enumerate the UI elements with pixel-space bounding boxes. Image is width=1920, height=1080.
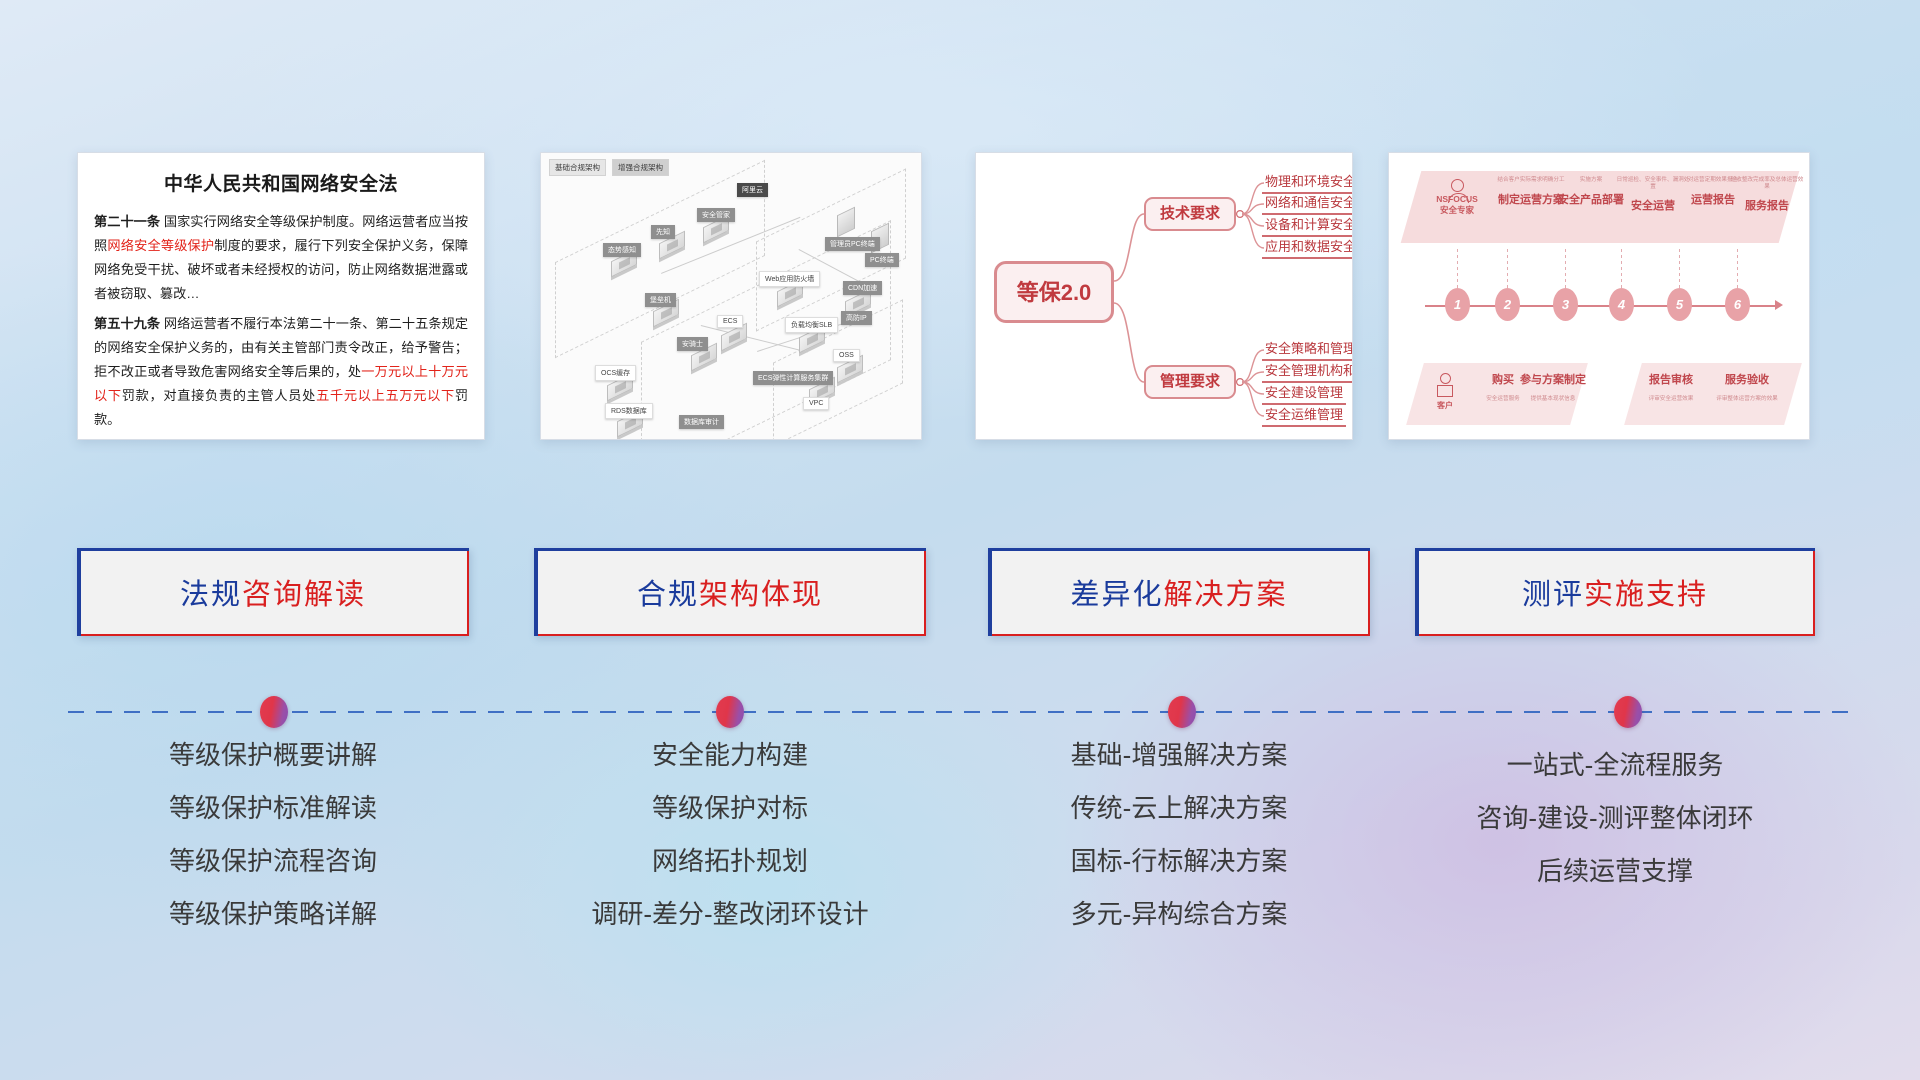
customer-icon [1440, 373, 1451, 384]
law-article-21: 第二十一条 国家实行网络安全等级保护制度。网络运营者应当按照网络安全等级保护制度… [94, 210, 468, 306]
mindmap-leaf: 网络和通信安全 [1262, 192, 1353, 215]
detail-column-evaluation: 一站式-全流程服务 咨询-建设-测评整体闭环 后续运营支撑 [1415, 742, 1815, 911]
mindmap-leaf: 安全策略和管理制度 [1262, 338, 1353, 361]
chip-slb: 负载均衡SLB [785, 317, 838, 333]
heading-text-part-a: 测评 [1522, 579, 1584, 611]
nsfocus-top-step: 验收整改完成率及总体运营效果 服务报告 [1729, 177, 1805, 213]
heading-text-part-b: 解决方案 [1164, 579, 1288, 611]
heading-text-part-b: 咨询解读 [242, 579, 366, 611]
tab-enhanced-architecture[interactable]: 增强合规架构 [612, 159, 669, 176]
mindmap-branch-management: 管理要求 [1144, 365, 1236, 399]
chip-cdn: CDN加速 [843, 281, 882, 295]
chip-ecs-cluster: ECS弹性计算服务集群 [753, 371, 833, 385]
heading-text-part-a: 差异化 [1070, 579, 1163, 611]
customer-step-name: 服务验收 [1701, 371, 1793, 387]
law-article-21-label: 第二十一条 [94, 214, 160, 229]
chip-situation-awareness: 态势感知 [603, 243, 641, 257]
nsfocus-brand: NSFOCUS 安全专家 [1425, 179, 1489, 215]
timeline-arrow-icon [1775, 300, 1783, 310]
heading-text: 合规架构体现 [637, 571, 823, 613]
chip-oss: OSS [833, 349, 860, 362]
detail-item: 等级保护对标 [534, 795, 926, 821]
mindmap-leaf: 物理和环境安全 [1262, 171, 1353, 194]
chip-cloud: 阿里云 [737, 183, 768, 197]
mindmap-leaf: 安全运维管理 [1262, 404, 1346, 427]
chip-perception: 先知 [651, 225, 675, 239]
law-article-21-highlight: 网络安全等级保护 [107, 238, 214, 253]
mindmap-leaf: 设备和计算安全 [1262, 214, 1353, 237]
chip-rds: RDS数据库 [605, 403, 653, 419]
chip-user-pc: PC终端 [865, 253, 899, 267]
law-article-59-text-b: 罚款，对直接负责的主管人员处 [122, 388, 316, 403]
headings-row: 法规咨询解读 合规架构体现 差异化解决方案 测评实施支持 [0, 548, 1920, 638]
law-card: 中华人民共和国网络安全法 第二十一条 国家实行网络安全等级保护制度。网络运营者应… [77, 152, 485, 440]
customer-step-sub: 提供基本现状信息 [1507, 394, 1599, 402]
customer-right-panel: 报告审核 评审安全运营效果 服务验收 评审整体运营方案的效果 [1624, 363, 1802, 425]
dashed-line [68, 711, 1852, 713]
timeline-dot [260, 696, 288, 728]
nsfocus-top-step-sub: 验收整改完成率及总体运营效果 [1729, 177, 1805, 190]
chip-db-audit: 数据库审计 [679, 415, 724, 429]
heading-text: 测评实施支持 [1522, 571, 1708, 613]
timeline-step-dot: 6 [1725, 288, 1750, 321]
detail-item: 传统-云上解决方案 [988, 795, 1370, 821]
chip-security-steward: 安全管家 [697, 208, 735, 222]
detail-item: 等级保护标准解读 [77, 795, 469, 821]
detail-item: 国标-行标解决方案 [988, 848, 1370, 874]
timeline-step-dot: 2 [1495, 288, 1520, 321]
nsfocus-timeline: NSFOCUS 安全专家 结合客户实际需求明确分工 制定运营方案 实施方案 安全… [1389, 153, 1809, 439]
detail-item: 安全能力构建 [534, 742, 926, 768]
timeline-step-dot: 4 [1609, 288, 1634, 321]
detail-item: 咨询-建设-测评整体闭环 [1415, 805, 1815, 831]
detail-item: 等级保护策略详解 [77, 901, 469, 927]
chip-bastion-host: 堡垒机 [645, 293, 676, 307]
chip-ecs: ECS [717, 315, 743, 328]
detail-column-regulation: 等级保护概要讲解 等级保护标准解读 等级保护流程咨询 等级保护策略详解 [77, 742, 469, 954]
customer-step: 参与方案制定 提供基本现状信息 [1507, 371, 1599, 402]
mindmap-leaf: 安全建设管理 [1262, 382, 1346, 405]
heading-text: 差异化解决方案 [1070, 571, 1287, 613]
architecture-diagram: 基础合规架构 增强合规架构 阿里云 安全管家 先知 [541, 153, 921, 439]
law-article-59-highlight-2: 五千元以上五万元以下 [316, 388, 455, 403]
chip-ocs-cache: OCS缓存 [595, 365, 636, 381]
tab-basic-architecture[interactable]: 基础合规架构 [549, 159, 606, 176]
architecture-tabs: 基础合规架构 增强合规架构 [549, 159, 669, 176]
heading-box-regulation-consulting[interactable]: 法规咨询解读 [77, 548, 469, 636]
detail-column-architecture: 安全能力构建 等级保护对标 网络拓扑规划 调研-差分-整改闭环设计 [534, 742, 926, 954]
heading-text-part-b: 架构体现 [699, 579, 823, 611]
heading-text-part-a: 合规 [637, 579, 699, 611]
customer-step: 服务验收 评审整体运营方案的效果 [1701, 371, 1793, 402]
chip-security-knight: 安骑士 [677, 337, 708, 351]
timeline-dot [1168, 696, 1196, 728]
heading-text-part-b: 实施支持 [1584, 579, 1708, 611]
detail-item: 等级保护流程咨询 [77, 848, 469, 874]
architecture-card: 基础合规架构 增强合规架构 阿里云 安全管家 先知 [540, 152, 922, 440]
timeline-step-dot: 5 [1667, 288, 1692, 321]
connector-timeline [68, 692, 1852, 732]
timeline-step-dot: 3 [1553, 288, 1578, 321]
law-content: 中华人民共和国网络安全法 第二十一条 国家实行网络安全等级保护制度。网络运营者应… [78, 153, 484, 440]
chip-waf: Web应用防火墙 [759, 271, 820, 287]
customer-left-panel: 客户 购买 安全运营服务 参与方案制定 提供基本现状信息 [1406, 363, 1588, 425]
timeline-dot [716, 696, 744, 728]
timeline-dot [1614, 696, 1642, 728]
timeline-step-dot: 1 [1445, 288, 1470, 321]
detail-item: 网络拓扑规划 [534, 848, 926, 874]
detail-item: 一站式-全流程服务 [1415, 752, 1815, 778]
chip-admin-pc: 管理员PC终端 [825, 237, 880, 251]
customer-check-icon [1437, 385, 1453, 397]
customer-step-name: 参与方案制定 [1507, 371, 1599, 387]
mindmap-leaf: 安全管理机构和人员 [1262, 360, 1353, 383]
heading-text-part-a: 法规 [180, 579, 242, 611]
heading-text: 法规咨询解读 [180, 571, 366, 613]
mindmap-card: 等保2.0 技术要求 物理和环境安全 网络和通信安全 设备和计算安全 应用和数据… [975, 152, 1353, 440]
customer-step-sub: 评审整体运营方案的效果 [1701, 394, 1793, 402]
mindmap-root-node: 等保2.0 [994, 261, 1114, 323]
chip-anti-ddos: 高防IP [841, 311, 872, 325]
nsfocus-brand-line2: 安全专家 [1425, 205, 1489, 216]
nsfocus-card: NSFOCUS 安全专家 结合客户实际需求明确分工 制定运营方案 实施方案 安全… [1388, 152, 1810, 440]
detail-item: 多元-异构综合方案 [988, 901, 1370, 927]
nsfocus-banner: NSFOCUS 安全专家 结合客户实际需求明确分工 制定运营方案 实施方案 安全… [1401, 171, 1800, 243]
law-title: 中华人民共和国网络安全法 [94, 169, 468, 196]
detail-item: 后续运营支撑 [1415, 858, 1815, 884]
detail-item: 基础-增强解决方案 [988, 742, 1370, 768]
heading-box-differentiated-solution[interactable]: 差异化解决方案 [988, 548, 1370, 636]
detail-column-solution: 基础-增强解决方案 传统-云上解决方案 国标-行标解决方案 多元-异构综合方案 [988, 742, 1370, 954]
mindmap-branch-technical: 技术要求 [1144, 197, 1236, 231]
law-article-59: 第五十九条 网络运营者不履行本法第二十一条、第二十五条规定的网络安全保护义务的，… [94, 312, 468, 432]
nsfocus-top-step-name: 服务报告 [1729, 197, 1805, 213]
mindmap-leaf: 应用和数据安全 [1262, 236, 1353, 259]
detail-item: 等级保护概要讲解 [77, 742, 469, 768]
slide-root: 中华人民共和国网络安全法 第二十一条 国家实行网络安全等级保护制度。网络运营者应… [0, 0, 1920, 1080]
heading-box-compliance-architecture[interactable]: 合规架构体现 [534, 548, 926, 636]
mindmap: 等保2.0 技术要求 物理和环境安全 网络和通信安全 设备和计算安全 应用和数据… [976, 153, 1352, 439]
chip-vpc: VPC [803, 397, 829, 410]
law-article-59-label: 第五十九条 [94, 316, 160, 331]
detail-item: 调研-差分-整改闭环设计 [534, 901, 926, 927]
heading-box-evaluation-support[interactable]: 测评实施支持 [1415, 548, 1815, 636]
expert-person-icon [1451, 179, 1464, 192]
image-cards-row: 中华人民共和国网络安全法 第二十一条 国家实行网络安全等级保护制度。网络运营者应… [0, 152, 1920, 442]
